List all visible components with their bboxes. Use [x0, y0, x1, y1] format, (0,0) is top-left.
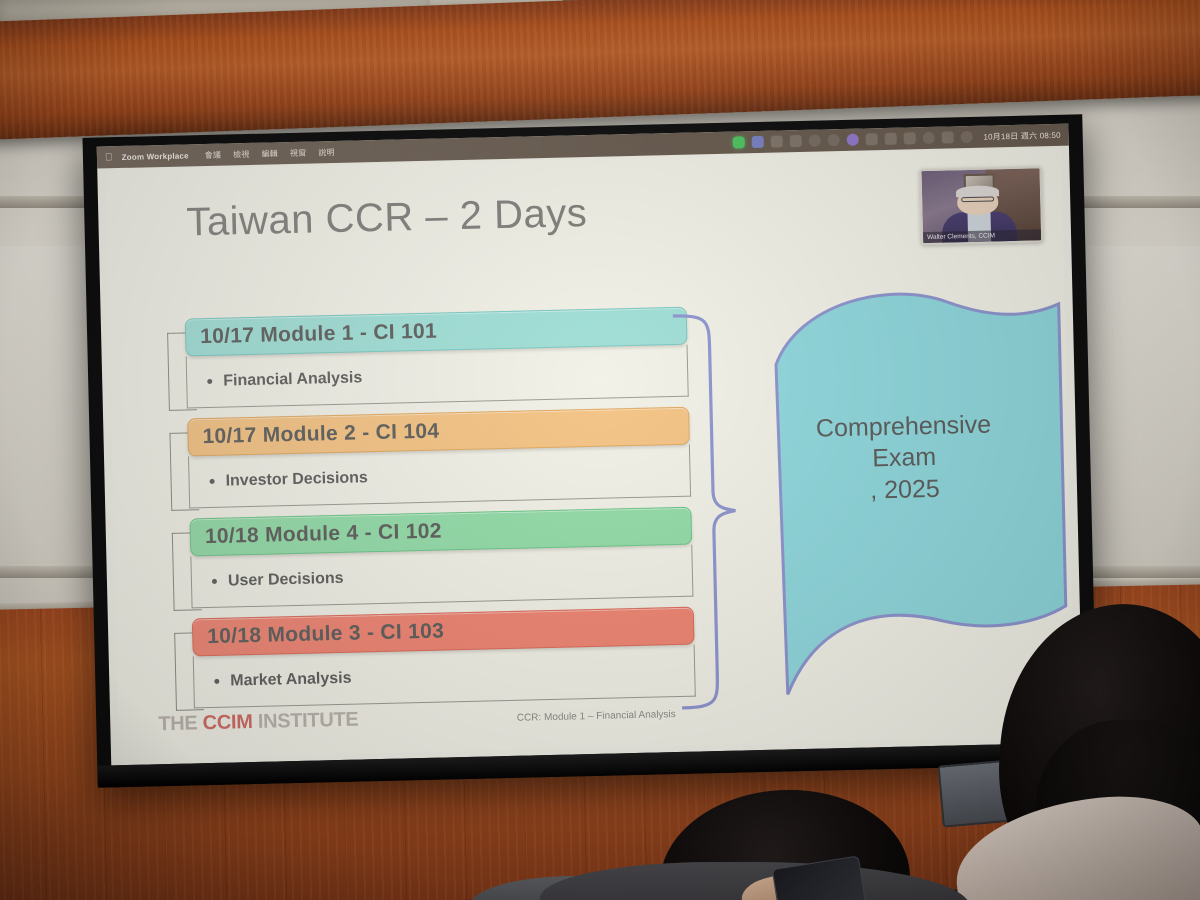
slide-footer-note: CCR: Module 1 – Financial Analysis: [517, 709, 676, 724]
menubar-spacer: [347, 143, 733, 152]
module-box: 10/18 Module 3 - CI 103 Market Analysis: [192, 607, 696, 709]
ribbon-line-3: , 2025: [785, 471, 1026, 508]
menu-item-view[interactable]: 檢視: [233, 148, 250, 159]
menubar-app-name[interactable]: Zoom Workplace: [122, 151, 189, 162]
module-box: 10/18 Module 4 - CI 102 User Decisions: [189, 507, 693, 609]
grid-icon[interactable]: [941, 131, 953, 143]
lock-icon[interactable]: [770, 135, 782, 147]
menubar-status-area[interactable]: 10月18日 週六 08:50: [732, 129, 1060, 149]
siri-icon[interactable]: [960, 131, 972, 143]
menu-item-window[interactable]: 視窗: [290, 147, 307, 158]
bullet-icon: [207, 379, 212, 384]
module-bullet-1: Financial Analysis: [223, 369, 362, 390]
ribbon-line-1: Comprehensive: [783, 409, 1024, 446]
search-icon[interactable]: [922, 132, 934, 144]
logo-word-the: THE: [158, 712, 203, 735]
zoom-camera-icon[interactable]: [846, 134, 858, 146]
input-source-icon[interactable]: [865, 133, 877, 145]
bullet-icon: [212, 579, 217, 584]
cloud-icon[interactable]: [789, 135, 801, 147]
module-list: 10/17 Module 1 - CI 101 Financial Analys…: [167, 307, 696, 719]
presentation-slide: Taiwan CCR – 2 Days Walter Clements, CCI…: [105, 148, 1075, 759]
menubar-clock[interactable]: 10月18日 週六 08:50: [983, 129, 1061, 142]
battery-icon[interactable]: [751, 136, 763, 148]
zoom-video-thumbnail[interactable]: Walter Clements, CCIM: [919, 166, 1043, 245]
bluetooth-icon[interactable]: [808, 134, 820, 146]
logo-word-ccim: CCIM: [202, 711, 252, 734]
module-box: 10/17 Module 2 - CI 104 Investor Decisio…: [187, 407, 691, 509]
ribbon-text-block: Comprehensive Exam , 2025: [783, 409, 1025, 508]
display-icon[interactable]: [903, 132, 915, 144]
lecture-room-photo:  Zoom Workplace 會議 檢視 編輯 視窗 說明: [0, 0, 1200, 900]
module-row[interactable]: 10/17 Module 2 - CI 104 Investor Decisio…: [169, 407, 691, 519]
module-bullet-4: Market Analysis: [230, 669, 352, 690]
bullet-icon: [210, 479, 215, 484]
slide-title: Taiwan CCR – 2 Days: [186, 191, 588, 245]
module-body-3: User Decisions: [190, 545, 693, 609]
module-row[interactable]: 10/17 Module 1 - CI 101 Financial Analys…: [167, 307, 689, 419]
module-row[interactable]: 10/18 Module 4 - CI 102 User Decisions: [171, 507, 693, 619]
comprehensive-exam-ribbon: Comprehensive Exam , 2025: [738, 288, 1078, 716]
control-center-icon[interactable]: [884, 133, 896, 145]
logo-word-institute: INSTITUTE: [252, 709, 358, 733]
menu-item-help[interactable]: 說明: [318, 146, 335, 157]
module-body-1: Financial Analysis: [186, 345, 689, 409]
participant-name-label: Walter Clements, CCIM: [923, 229, 1041, 243]
bullet-icon: [214, 679, 219, 684]
menu-item-meeting[interactable]: 會議: [205, 149, 222, 160]
screen-share-icon[interactable]: [732, 136, 744, 148]
module-row[interactable]: 10/18 Module 3 - CI 103 Market Analysis: [174, 607, 696, 719]
module-body-2: Investor Decisions: [188, 445, 691, 509]
module-body-4: Market Analysis: [193, 645, 696, 709]
ccim-institute-logo: THE CCIM INSTITUTE: [158, 709, 359, 737]
module-bullet-3: User Decisions: [228, 569, 344, 590]
projection-screen-frame:  Zoom Workplace 會議 檢視 編輯 視窗 說明: [82, 114, 1097, 787]
clock-icon[interactable]: [827, 134, 839, 146]
menu-item-edit[interactable]: 編輯: [261, 148, 278, 159]
module-bullet-2: Investor Decisions: [225, 469, 368, 490]
apple-icon[interactable]: : [105, 152, 113, 163]
projection-screen:  Zoom Workplace 會議 檢視 編輯 視窗 說明: [97, 124, 1083, 766]
module-box: 10/17 Module 1 - CI 101 Financial Analys…: [185, 307, 689, 409]
